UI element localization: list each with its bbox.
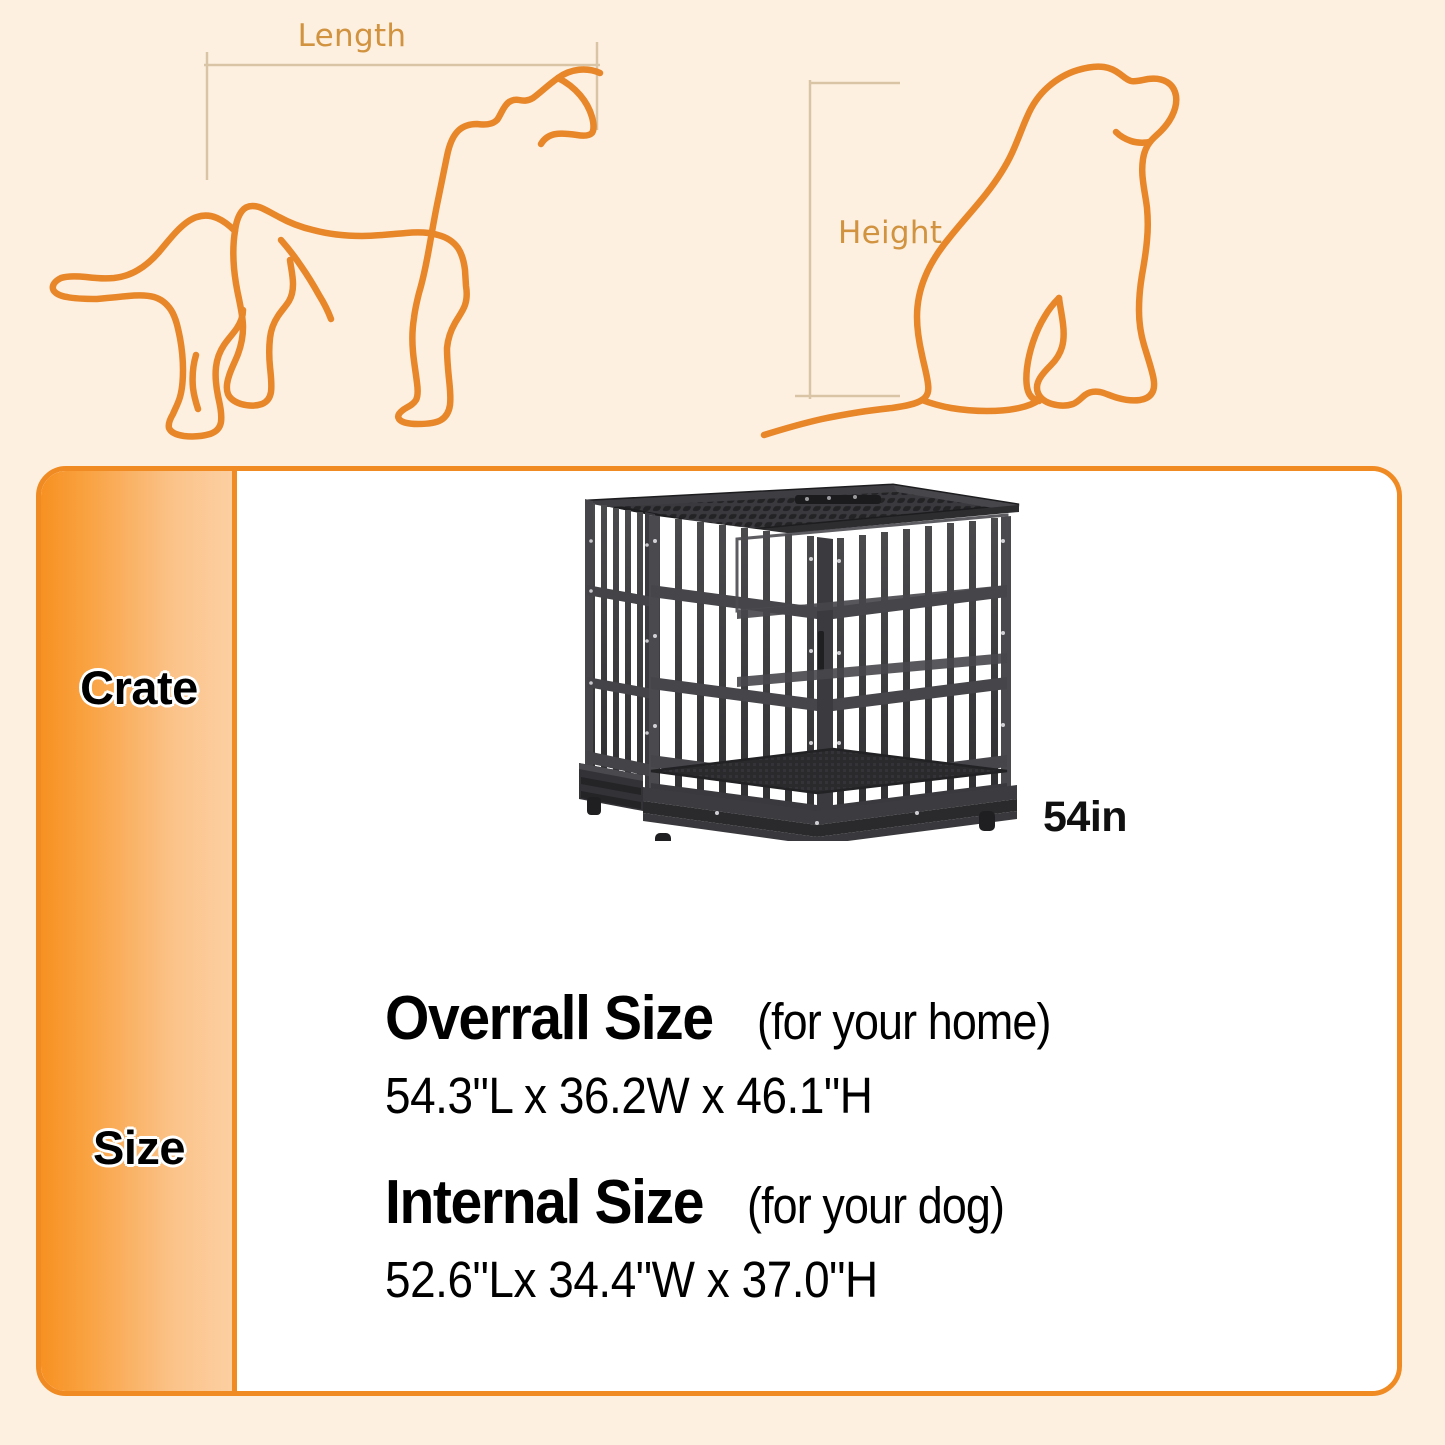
overall-size-block: Overrall Size (for your home) 54.3"L x 3…: [385, 983, 1091, 1125]
size-content-cell: Overrall Size (for your home) 54.3"L x 3…: [237, 903, 1397, 1391]
table-row-size: Size Overrall Size (for your home) 54.3"…: [41, 903, 1397, 1391]
height-label: Height: [838, 215, 942, 251]
internal-size-block: Internal Size (for your dog) 52.6"Lx 34.…: [385, 1167, 1039, 1309]
sitting-dog-outline-icon: [764, 67, 1176, 435]
internal-size-note: (for your dog): [747, 1176, 1004, 1235]
length-measure-guides: [204, 42, 600, 180]
standing-dog-outline-icon: [53, 70, 600, 437]
sitting-dog-figure: Height: [740, 0, 1300, 455]
row-label-crate-cell: Crate: [41, 471, 237, 903]
crate-size-caption: 54in: [1043, 793, 1127, 842]
overall-size-note: (for your home): [757, 992, 1051, 1051]
table-row-crate: Crate: [41, 471, 1397, 903]
internal-size-dimensions: 52.6"Lx 34.4"W x 37.0"H: [385, 1250, 973, 1309]
row-label-crate: Crate: [80, 660, 198, 715]
crate-left-side-panel: [585, 499, 655, 799]
dimension-diagram-area: Length Height: [0, 0, 1445, 455]
overall-size-dimensions: 54.3"L x 36.2W x 46.1"H: [385, 1066, 1020, 1125]
overall-size-heading: Overrall Size: [385, 983, 713, 1054]
standing-dog-figure: Length: [0, 0, 700, 455]
row-label-size: Size: [93, 1120, 185, 1175]
internal-size-heading: Internal Size: [385, 1167, 703, 1238]
row-label-size-cell: Size: [41, 903, 237, 1391]
dog-crate-image: [567, 481, 1023, 841]
spec-card: Crate: [36, 466, 1402, 1396]
crate-content-cell: 54in: [237, 471, 1397, 903]
length-label: Length: [298, 18, 407, 54]
spec-table: Crate: [41, 471, 1397, 1391]
